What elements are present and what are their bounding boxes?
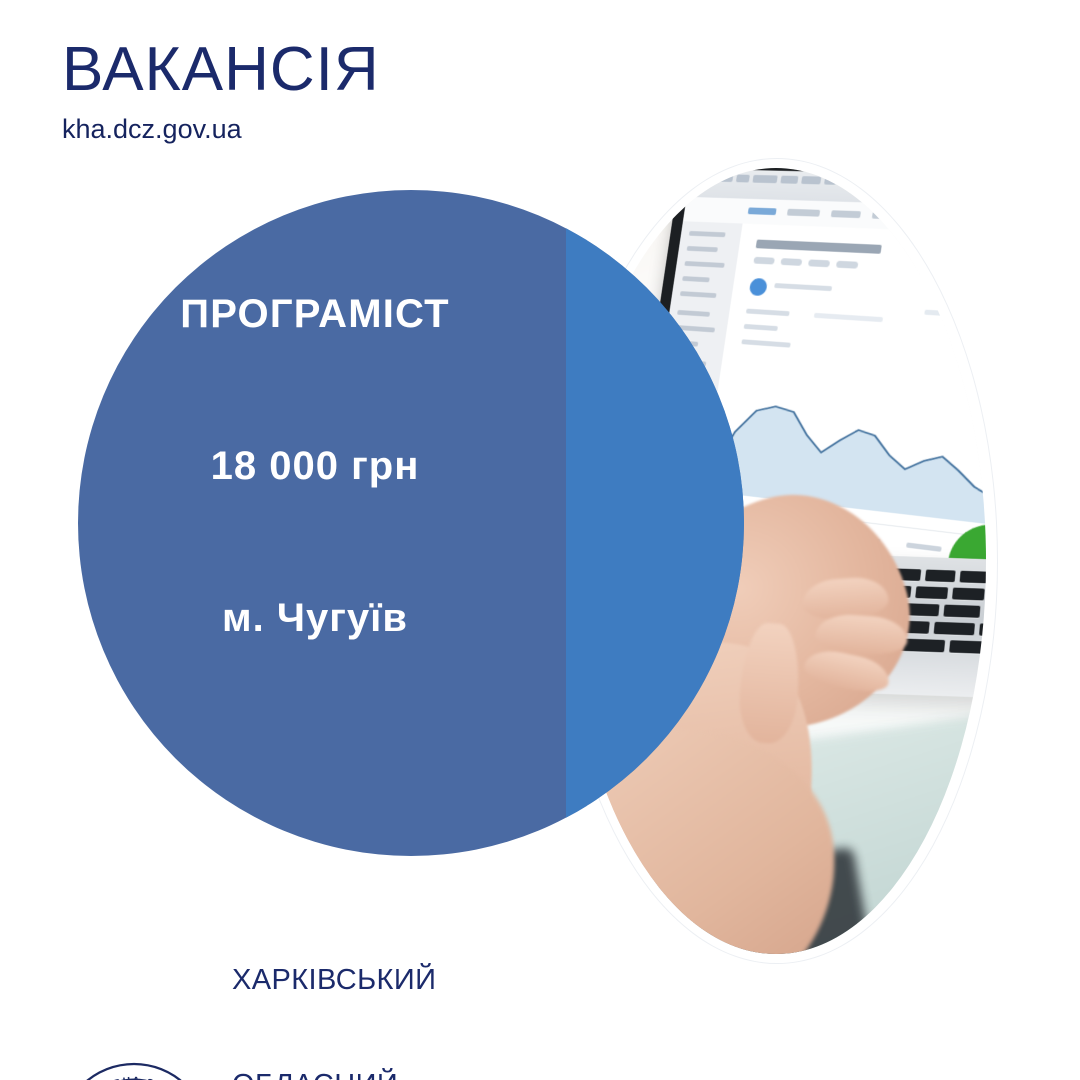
screen-report-heading bbox=[756, 240, 882, 254]
vacancy-details: ПРОГРАМІСТ 18 000 грн м. Чугуїв bbox=[100, 290, 530, 642]
state-employment-service-logo-icon: ДЕРЖАВНА СЛУЖБА ЗАЙНЯТОСТІ bbox=[58, 1062, 210, 1080]
org-line-1: ХАРКІВСЬКИЙ bbox=[232, 963, 436, 998]
vacancy-salary: 18 000 грн bbox=[100, 442, 530, 490]
screen-toolbar-chips bbox=[694, 174, 948, 188]
page-title: ВАКАНСІЯ bbox=[62, 38, 380, 102]
footer-branding: ДЕРЖАВНА СЛУЖБА ЗАЙНЯТОСТІ ХАРКІВСЬКИЙ О… bbox=[58, 893, 436, 1080]
org-line-2: ОБЛАСНИЙ bbox=[232, 1068, 436, 1080]
vacancy-position: ПРОГРАМІСТ bbox=[100, 290, 530, 338]
vacancy-location: м. Чугуїв bbox=[100, 594, 530, 642]
website-url[interactable]: kha.dcz.gov.ua bbox=[62, 114, 380, 144]
screen-date-pills bbox=[753, 257, 858, 269]
screen-user-avatar-icon bbox=[749, 278, 768, 296]
vacancy-poster: ВАКАНСІЯ kha.dcz.gov.ua ПРОГРАМІСТ 18 00… bbox=[0, 0, 1080, 1080]
poster-header: ВАКАНСІЯ kha.dcz.gov.ua bbox=[62, 38, 380, 144]
organization-name: ХАРКІВСЬКИЙ ОБЛАСНИЙ ЦЕНТР ЗАЙНЯТОСТІ bbox=[232, 893, 436, 1080]
